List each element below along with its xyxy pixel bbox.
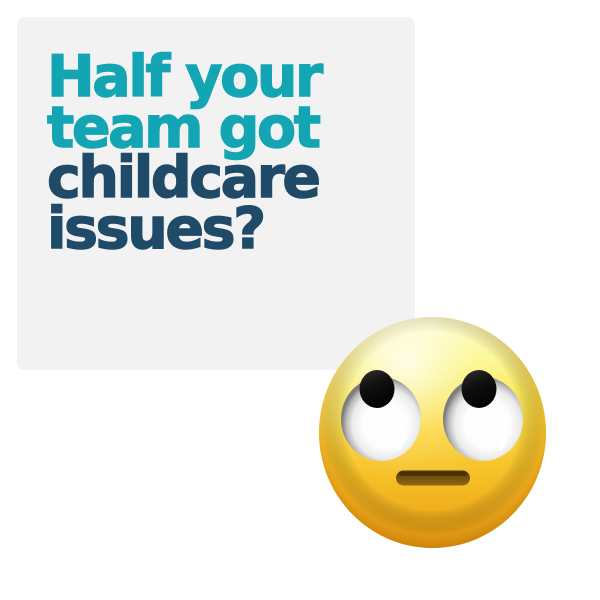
emoji-mouth <box>396 471 470 486</box>
right-eye-pupil <box>462 370 497 408</box>
mouth-inner-shadow <box>399 472 467 476</box>
headline-line-4: issues? <box>47 202 407 257</box>
poster-canvas: Half your team got childcare issues? <box>0 0 600 600</box>
face-with-rolling-eyes-emoji <box>319 317 546 548</box>
page-title: Half your team got childcare issues? <box>47 50 407 257</box>
emoji-svg <box>319 317 546 548</box>
left-eye-pupil <box>360 370 395 408</box>
